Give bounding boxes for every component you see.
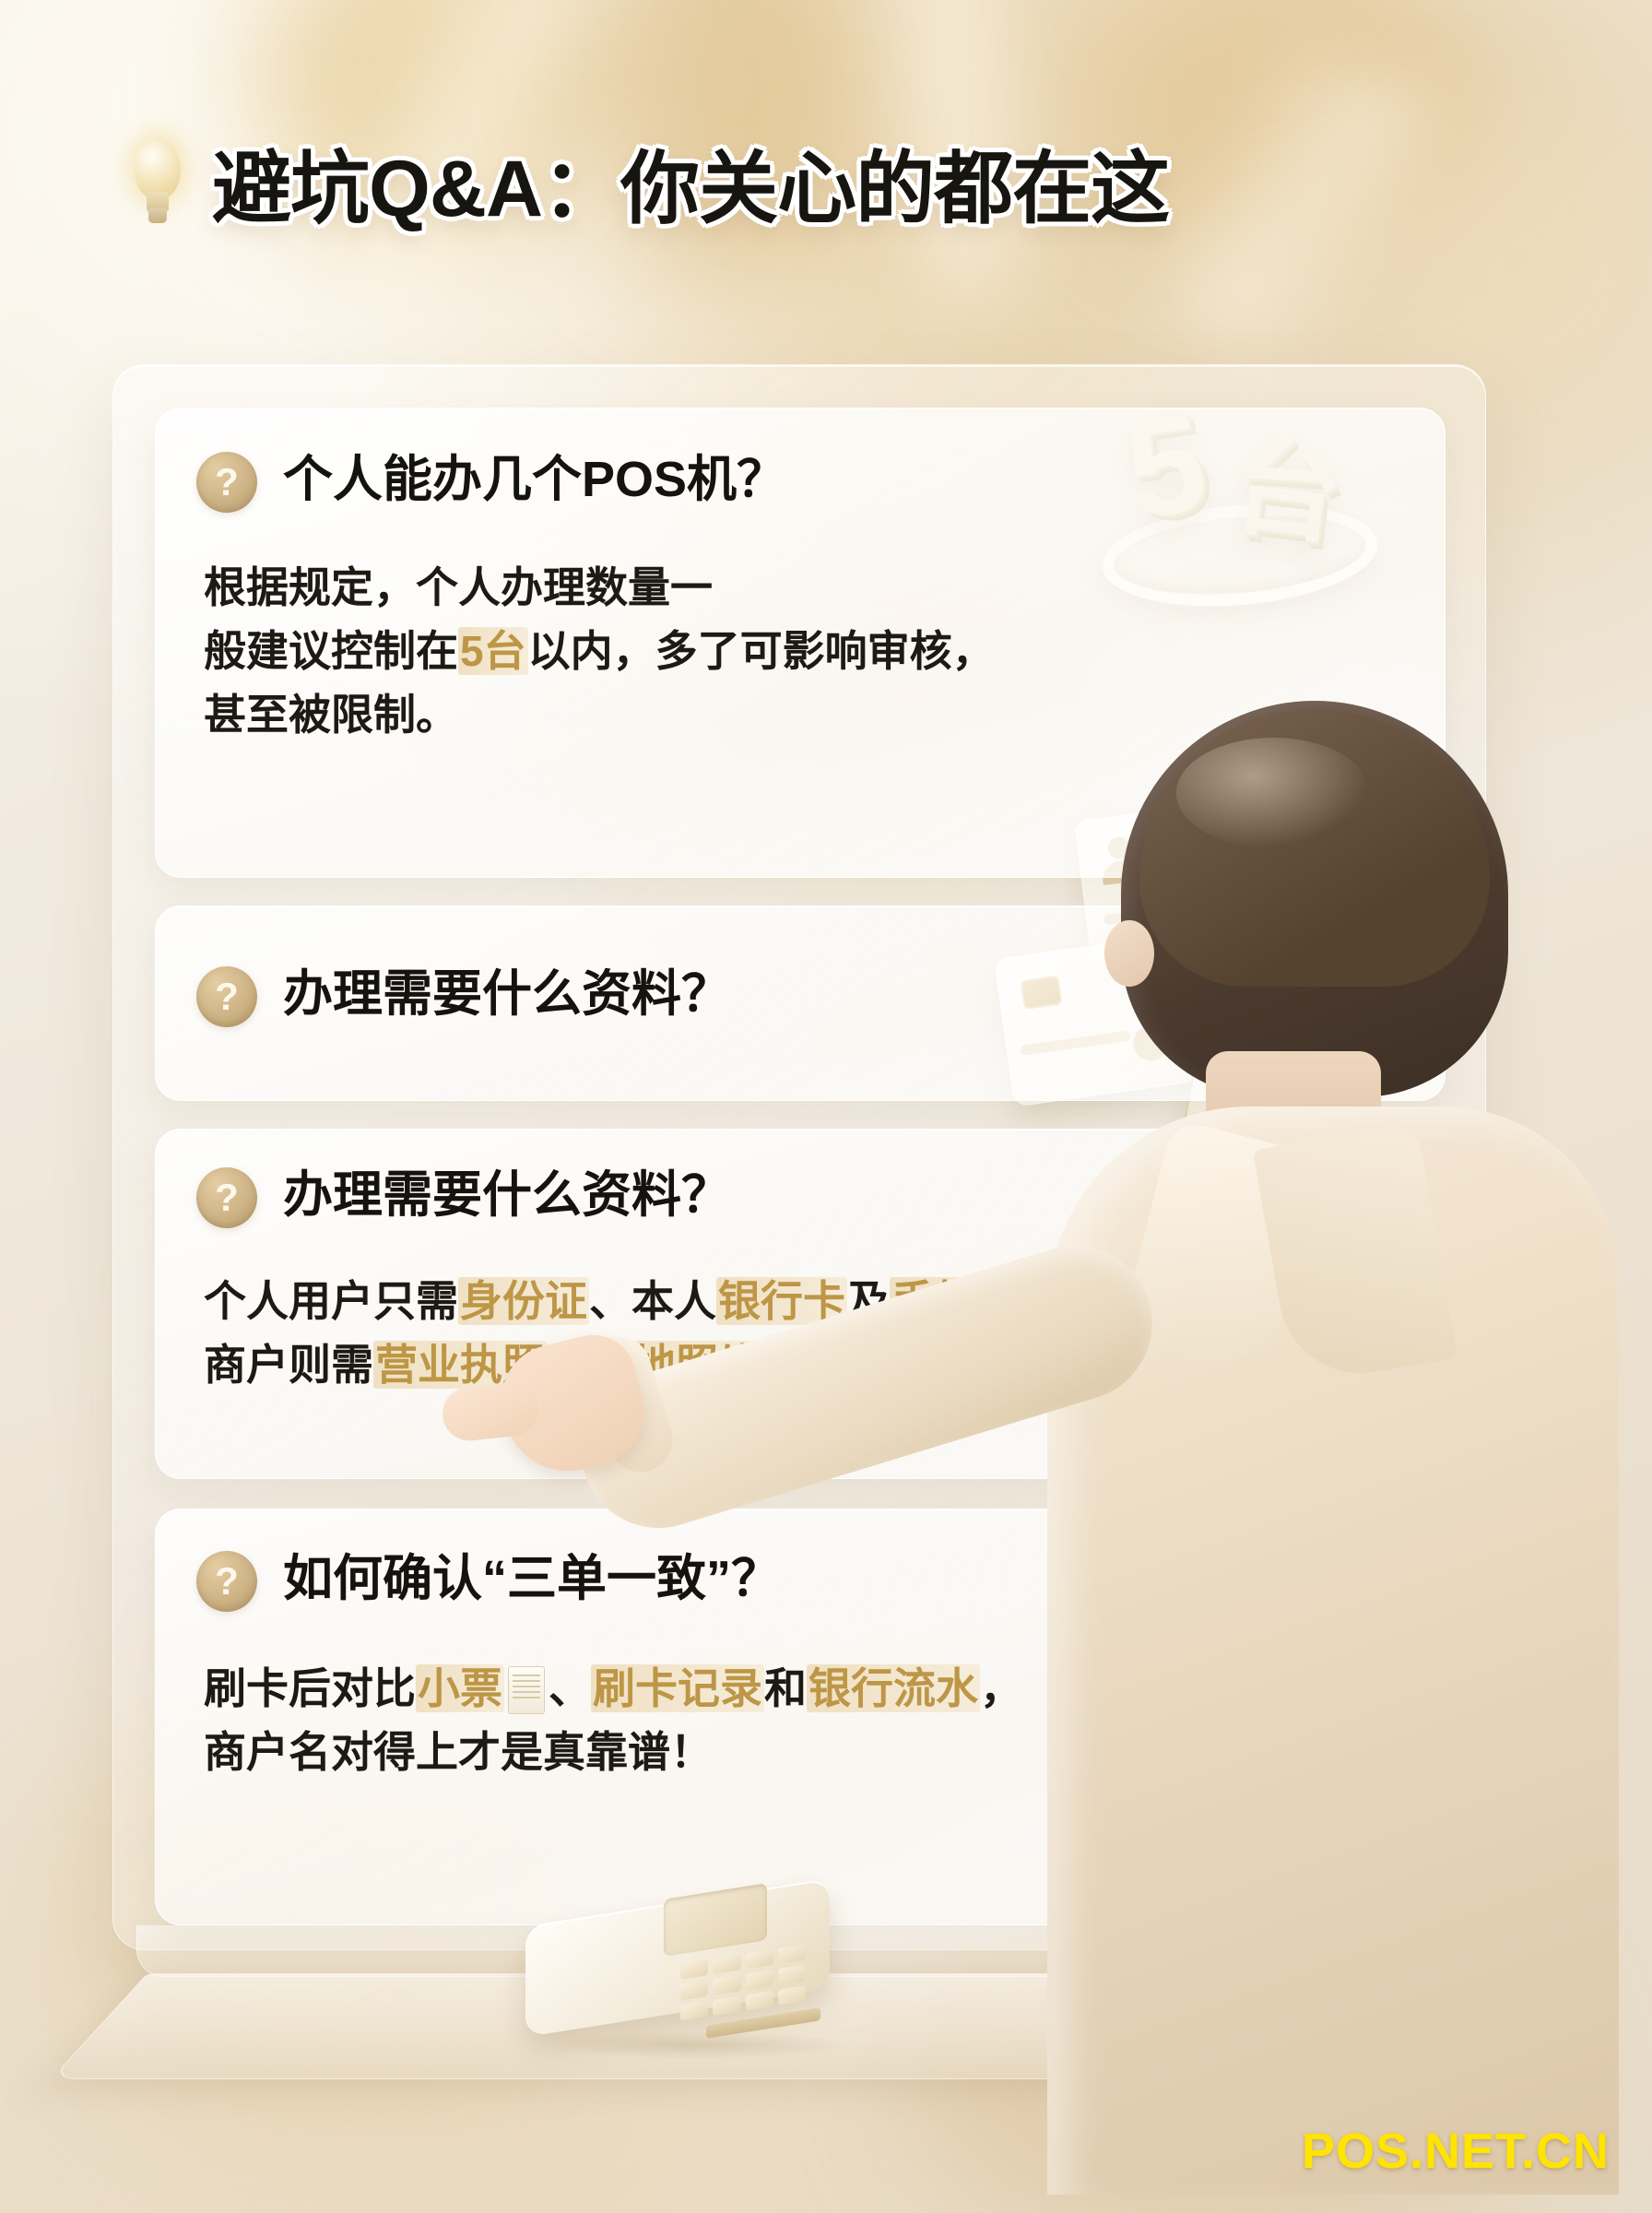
site-watermark: POS.NET.CN: [1302, 2123, 1610, 2180]
qa-question-row: ? 个人能办几个POS机？: [196, 449, 796, 515]
question-badge-icon: ?: [196, 452, 257, 513]
qa-question-row: ? 办理需要什么资料？: [196, 964, 740, 1030]
woman-character-illustration: [959, 701, 1652, 2213]
question-badge-icon: ?: [196, 1551, 257, 1612]
qa-question-text: 办理需要什么资料？: [277, 1165, 740, 1231]
page-header: 避坑Q&A：你关心的都在这: [129, 138, 1169, 240]
highlight-term: 身份证: [458, 1277, 589, 1325]
qa-question-text: 个人能办几个POS机？: [277, 449, 796, 515]
lightbulb-icon: [129, 138, 186, 240]
answer-line: 根据规定，个人办理数量一: [204, 556, 1393, 620]
highlight-term: 5台: [458, 627, 528, 675]
qa-question-row: ? 办理需要什么资料？: [196, 1165, 740, 1231]
pos-terminal-icon: [525, 1876, 894, 2070]
question-badge-icon: ?: [196, 1167, 257, 1228]
receipt-icon: [508, 1666, 545, 1714]
qa-question-text: 办理需要什么资料？: [277, 964, 740, 1030]
page-title: 避坑Q&A：你关心的都在这: [212, 149, 1169, 229]
qa-question-text: 如何确认“三单一致”？: [277, 1548, 790, 1615]
highlight-term: 小票: [416, 1664, 504, 1712]
highlight-term: 刷卡记录: [591, 1664, 764, 1712]
highlight-term: 银行流水: [807, 1664, 980, 1712]
answer-line: 般建议控制在5台以内，多了可影响审核，: [204, 620, 1393, 683]
question-badge-icon: ?: [196, 966, 257, 1027]
qa-question-row: ? 如何确认“三单一致”？: [196, 1548, 790, 1615]
